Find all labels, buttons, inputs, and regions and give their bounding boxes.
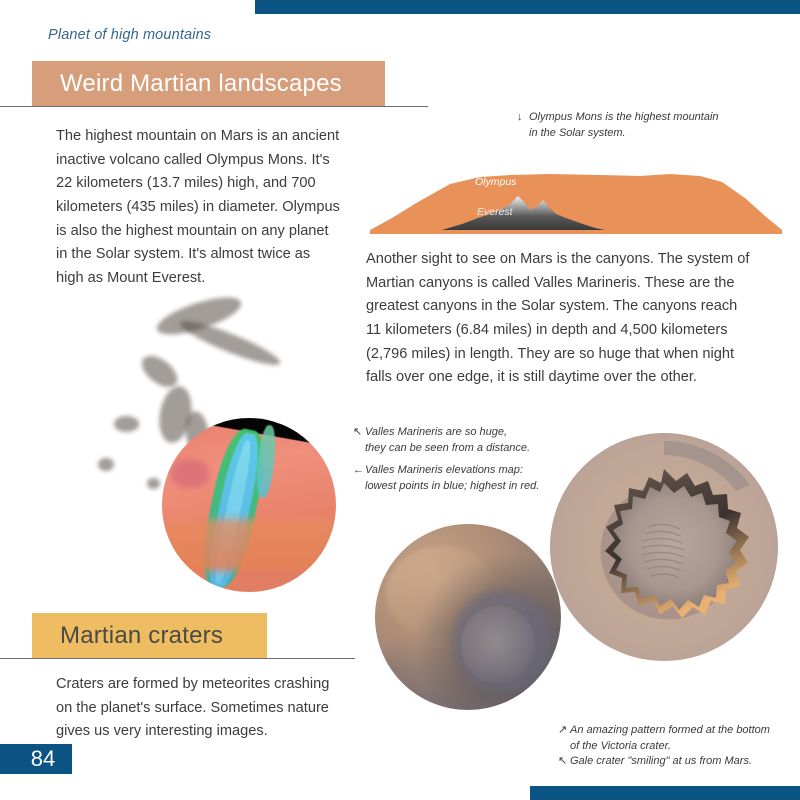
lowland-orange-region — [165, 519, 332, 571]
caption-line-2: of the Victoria crater. — [570, 740, 671, 752]
victoria-crater-photo — [550, 433, 778, 661]
arrow-up-right-icon: ↗ — [558, 723, 570, 739]
caption-line-1: Valles Marineris elevations map: — [365, 464, 523, 476]
crater-mark — [98, 458, 113, 471]
heading-rule-top — [0, 106, 428, 107]
surface-marking — [176, 314, 283, 371]
caption-line-2: they can be seen from a distance. — [365, 442, 530, 454]
olympus-everest-profile-diagram — [370, 158, 782, 234]
paragraph-olympus: The highest mountain on Mars is an ancie… — [56, 125, 341, 290]
arrow-up-left-icon: ↖ — [558, 754, 570, 770]
section-heading-label: Weird Martian landscapes — [60, 70, 342, 98]
page-number: 84 — [0, 744, 72, 774]
paragraph-canyons: Another sight to see on Mars is the cany… — [366, 248, 751, 390]
top-accent-bar — [255, 0, 800, 14]
caption-victoria-crater: ↗An amazing pattern formed at the bottom… — [558, 723, 773, 754]
bottom-accent-bar — [530, 786, 800, 800]
caption-valles-distance: ↖Valles Marineris are so huge, they can … — [353, 425, 538, 456]
caption-gale-crater: ↖Gale crater "smiling" at us from Mars. — [558, 754, 773, 770]
caption-olympus-mons: ↓Olympus Mons is the highest mountain in… — [517, 110, 757, 141]
valles-marineris-elevation-map — [162, 418, 336, 592]
section-heading-weird-landscapes: Weird Martian landscapes — [32, 61, 385, 107]
caption-line-1: Valles Marineris are so huge, — [365, 426, 507, 438]
section-heading-martian-craters: Martian craters — [32, 613, 267, 659]
caption-line-1: Gale crater "smiling" at us from Mars. — [570, 755, 752, 767]
highland-magenta-region — [171, 460, 209, 488]
crater-mark — [147, 478, 160, 488]
arrow-down-icon: ↓ — [517, 110, 529, 126]
caption-valles-elevation: ←Valles Marineris elevations map: lowest… — [353, 463, 548, 494]
arrow-up-left-icon: ↖ — [353, 425, 365, 441]
caption-line-1: An amazing pattern formed at the bottom — [570, 724, 770, 736]
heading-rule-bottom — [0, 658, 355, 659]
caption-line-2: in the Solar system. — [529, 127, 626, 139]
caption-line-1: Olympus Mons is the highest mountain — [529, 111, 719, 123]
shadowed-terrain — [379, 632, 509, 710]
paragraph-craters: Craters are formed by meteorites crashin… — [56, 673, 341, 744]
sunlit-terrain — [386, 546, 498, 639]
arrow-left-icon: ← — [353, 463, 365, 479]
section-heading-label: Martian craters — [60, 622, 223, 650]
victoria-crater-detail — [550, 433, 778, 661]
caption-line-2: lowest points in blue; highest in red. — [365, 480, 539, 492]
chapter-eyebrow: Planet of high mountains — [48, 27, 211, 43]
diagram-base-line — [370, 230, 782, 234]
surface-marking — [114, 416, 140, 431]
gale-crater-photo — [375, 524, 561, 710]
